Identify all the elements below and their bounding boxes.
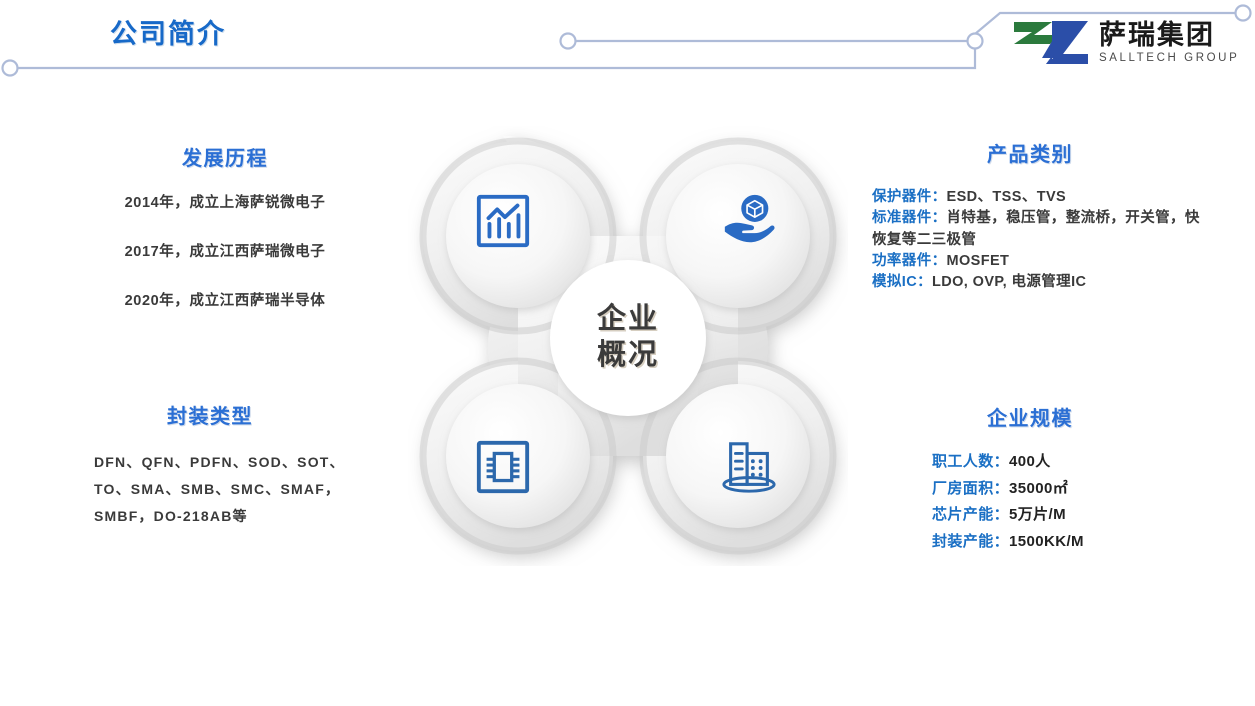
scale-row: 职工人数：400人: [932, 449, 1200, 476]
product-value: ESD、TSS、TVS: [947, 189, 1067, 205]
product-label: 模拟IC：: [872, 274, 932, 290]
hand-package-icon: [720, 192, 778, 250]
scale-label: 职工人数：: [932, 453, 1009, 470]
product-label: 保护器件：: [872, 189, 947, 205]
history-item: 2020年，成立江西萨瑞半导体: [60, 291, 390, 312]
product-list: 保护器件：ESD、TSS、TVS 标准器件：肖特基，稳压管，整流桥，开关管，快恢…: [860, 187, 1200, 294]
scale-value: 400人: [1009, 453, 1051, 470]
history-item: 2014年，成立上海萨锐微电子: [60, 193, 390, 214]
scale-row: 封装产能：1500KK/M: [932, 529, 1200, 556]
product-label: 标准器件：: [872, 210, 947, 226]
scale-value: 5万片/M: [1009, 506, 1066, 523]
scale-label: 封装产能：: [932, 533, 1009, 550]
product-row: 标准器件：肖特基，稳压管，整流桥，开关管，快恢复等二三极管: [872, 208, 1200, 251]
scale-label: 厂房面积：: [932, 480, 1009, 497]
product-value: LDO, OVP, 电源管理IC: [932, 274, 1086, 290]
section-product-categories: 产品类别 保护器件：ESD、TSS、TVS 标准器件：肖特基，稳压管，整流桥，开…: [860, 138, 1200, 294]
product-label: 功率器件：: [872, 253, 947, 269]
logo-name-cn: 萨瑞集团: [1099, 22, 1239, 49]
logo-name-en: SALLTECH GROUP: [1099, 53, 1239, 65]
section-title-scale: 企业规模: [860, 402, 1200, 431]
section-enterprise-scale: 企业规模 职工人数：400人 厂房面积：35000㎡ 芯片产能：5万片/M 封装…: [860, 402, 1200, 556]
decor-node-middle: [968, 34, 983, 49]
decor-node-left: [561, 34, 576, 49]
product-row: 功率器件：MOSFET: [872, 251, 1200, 272]
salltech-logo-mark: [1012, 18, 1090, 68]
company-logo: 萨瑞集团 SALLTECH GROUP: [1012, 18, 1239, 68]
product-row: 保护器件：ESD、TSS、TVS: [872, 187, 1200, 208]
buildings-icon: [720, 438, 778, 496]
section-title-history: 发展历程: [60, 142, 390, 171]
decor-trace-bottom: [18, 48, 975, 68]
section-history: 发展历程 2014年，成立上海萨锐微电子 2017年，成立江西萨瑞微电子 202…: [60, 142, 390, 340]
product-row: 模拟IC：LDO, OVP, 电源管理IC: [872, 272, 1200, 293]
chart-icon: [474, 192, 532, 250]
package-types-text: DFN、QFN、PDFN、SOD、SOT、TO、SMA、SMB、SMC、SMAF…: [60, 449, 360, 530]
scale-value: 35000㎡: [1009, 480, 1068, 497]
scale-row: 芯片产能：5万片/M: [932, 502, 1200, 529]
chip-icon: [474, 438, 532, 496]
product-value: MOSFET: [947, 253, 1010, 269]
enterprise-overview-diagram: 企业 概况: [408, 126, 848, 566]
scale-list: 职工人数：400人 厂房面积：35000㎡ 芯片产能：5万片/M 封装产能：15…: [860, 449, 1200, 556]
scale-value: 1500KK/M: [1009, 533, 1084, 550]
scale-label: 芯片产能：: [932, 506, 1009, 523]
logo-text: 萨瑞集团 SALLTECH GROUP: [1099, 22, 1239, 65]
section-title-products: 产品类别: [860, 138, 1200, 167]
center-label: 企业 概况: [558, 268, 698, 408]
history-item: 2017年，成立江西萨瑞微电子: [60, 242, 390, 263]
center-label-line1: 企业: [597, 302, 659, 338]
page-title: 公司简介: [110, 12, 226, 51]
section-title-package: 封装类型: [60, 400, 360, 429]
center-label-line2: 概况: [597, 338, 659, 374]
decor-node-bottom-left: [3, 61, 18, 76]
scale-row: 厂房面积：35000㎡: [932, 476, 1200, 503]
section-package-types: 封装类型 DFN、QFN、PDFN、SOD、SOT、TO、SMA、SMB、SMC…: [60, 400, 360, 530]
